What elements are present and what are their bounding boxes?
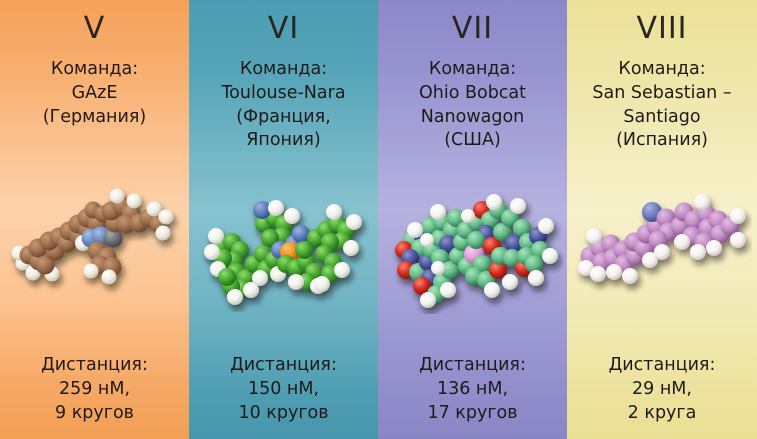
distance-line: Дистанция: (573, 353, 751, 377)
team-line: Nanowagon (384, 106, 561, 130)
distance-line: 2 круга (573, 401, 751, 425)
molecule-image-container (567, 153, 757, 352)
molecule-gaze-brown (5, 181, 185, 301)
panel-roman-numeral: VII (452, 14, 493, 44)
distance-block: Дистанция: 136 нМ, 17 кругов (378, 353, 567, 439)
distance-line: 259 нМ, (6, 377, 183, 401)
team-line: Команда: (195, 58, 372, 82)
molecule-san-sebastian-santiago-violet (572, 194, 752, 312)
molecule-toulouse-nara-green (194, 194, 374, 312)
panel-roman-numeral: V (84, 14, 106, 44)
team-line: Команда: (6, 58, 183, 82)
team-line: (США) (384, 129, 561, 153)
team-panel-v: V Команда: GAzE (Германия) (0, 0, 189, 439)
distance-line: 9 кругов (6, 401, 183, 425)
molecule-image-container (0, 129, 189, 352)
team-name-block: Команда: GAzE (Германия) (0, 58, 189, 129)
distance-line: Дистанция: (195, 353, 372, 377)
distance-line: 136 нМ, (384, 377, 561, 401)
molecule-image-container (189, 153, 378, 352)
team-line: Команда: (384, 58, 561, 82)
distance-line: 17 кругов (384, 401, 561, 425)
distance-line: 150 нМ, (195, 377, 372, 401)
distance-line: 29 нМ, (573, 377, 751, 401)
team-line: (Германия) (6, 106, 183, 130)
distance-line: 10 кругов (195, 401, 372, 425)
distance-block: Дистанция: 259 нМ, 9 кругов (0, 353, 189, 439)
molecule-image-container (378, 153, 567, 352)
distance-block: Дистанция: 29 нМ, 2 круга (567, 353, 757, 439)
distance-line: Дистанция: (6, 353, 183, 377)
team-line: Япония) (195, 129, 372, 153)
team-line: GAzE (6, 82, 183, 106)
team-panel-viii: VIII Команда: San Sebastian – Santiago (… (567, 0, 757, 439)
nanocar-race-panel-board: V Команда: GAzE (Германия) (0, 0, 757, 439)
distance-block: Дистанция: 150 нМ, 10 кругов (189, 353, 378, 439)
molecule-ohio-bobcat-nanowagon (382, 192, 564, 314)
team-name-block: Команда: San Sebastian – Santiago (Испан… (567, 58, 757, 153)
panel-roman-numeral: VI (268, 14, 299, 44)
distance-line: Дистанция: (384, 353, 561, 377)
team-panel-vi: VI Команда: Toulouse-Nara (Франция, Япон… (189, 0, 378, 439)
team-name-block: Команда: Toulouse-Nara (Франция, Япония) (189, 58, 378, 153)
team-line: Toulouse-Nara (195, 82, 372, 106)
team-panel-vii: VII Команда: Ohio Bobcat Nanowagon (США) (378, 0, 567, 439)
team-line: (Испания) (573, 129, 751, 153)
panel-roman-numeral: VIII (636, 14, 687, 44)
team-name-block: Команда: Ohio Bobcat Nanowagon (США) (378, 58, 567, 153)
team-line: (Франция, (195, 106, 372, 130)
team-line: San Sebastian – (573, 82, 751, 106)
team-line: Santiago (573, 106, 751, 130)
team-line: Команда: (573, 58, 751, 82)
team-line: Ohio Bobcat (384, 82, 561, 106)
